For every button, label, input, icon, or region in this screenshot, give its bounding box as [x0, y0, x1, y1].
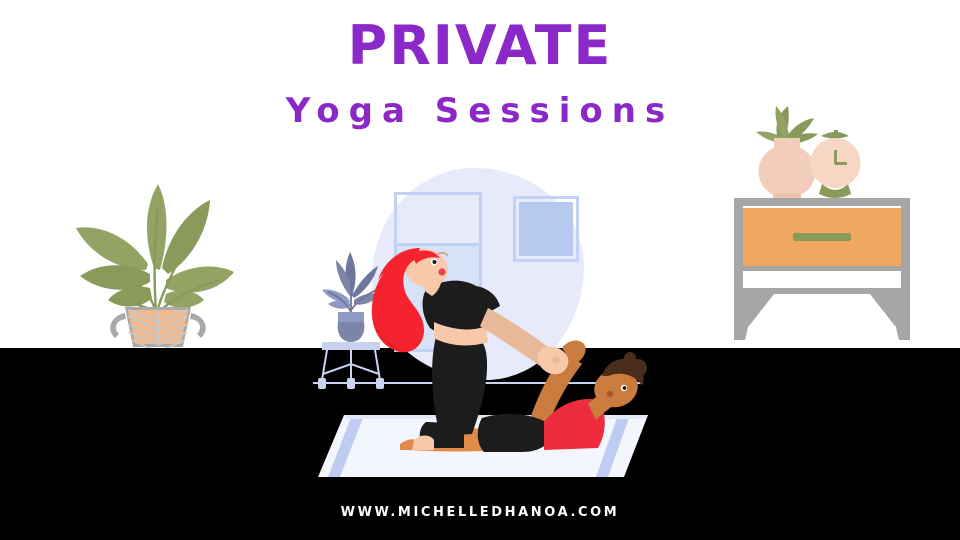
vase-plant-icon — [756, 106, 818, 143]
instructor-lips — [438, 268, 445, 275]
instructor-foot — [412, 436, 434, 451]
drawer-handle — [793, 233, 851, 241]
nightstand-with-decor — [716, 88, 928, 350]
potted-leafy-plant — [70, 180, 240, 348]
poster-canvas: PRIVATE Yoga Sessions WWW.MICHELLEDHANOA… — [0, 0, 960, 540]
vase-icon — [759, 138, 816, 199]
footer-website-url: WWW.MICHELLEDHANOA.COM — [0, 505, 960, 520]
alarm-clock-icon — [811, 130, 861, 198]
plant-pot-icon — [110, 307, 206, 348]
yoga-figures-illustration — [330, 236, 650, 480]
